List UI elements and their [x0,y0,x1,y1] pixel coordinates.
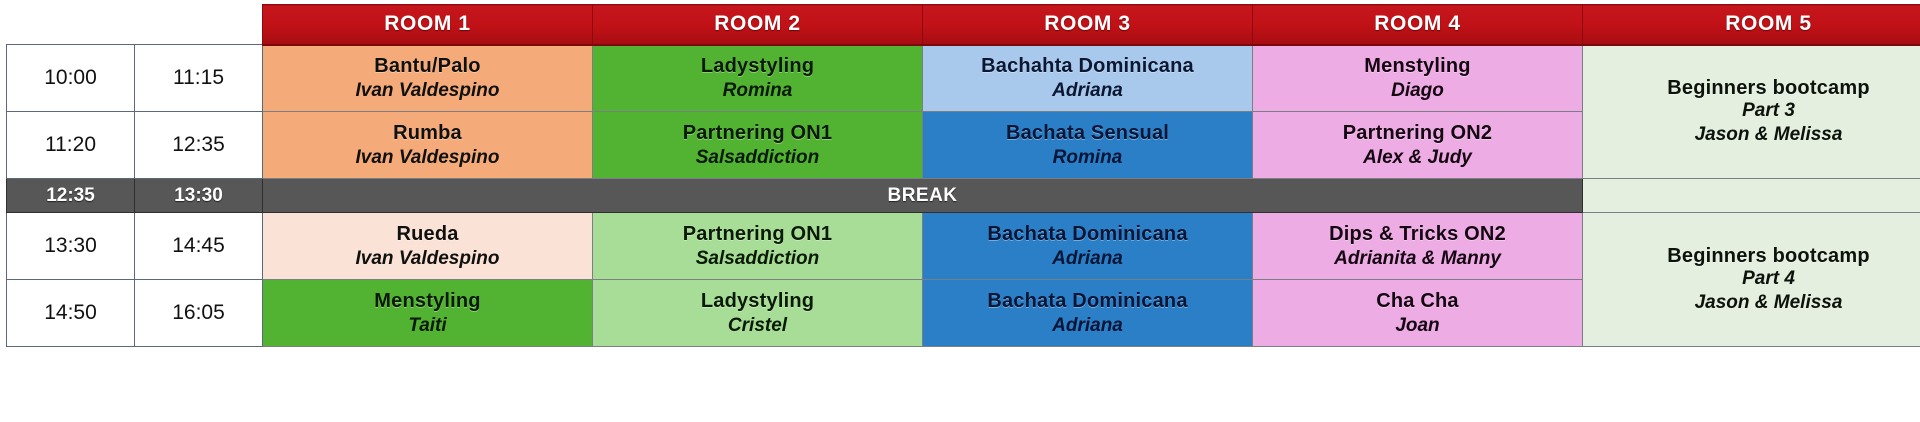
session-r1-room2[interactable]: Ladystyling Romina [593,45,923,112]
table-row: 13:30 14:45 Rueda Ivan Valdespino Partne… [7,213,1920,280]
row-4-end-time: 16:05 [135,280,263,347]
session-bootcamp-part-4-room5[interactable]: Beginners bootcamp Part 4 Jason & Meliss… [1583,213,1920,347]
header-blank-start-time [7,5,135,45]
row-3-start-time: 13:30 [7,213,135,280]
session-instructor: Salsaddiction [599,147,916,169]
session-title: Dips & Tricks ON2 [1259,223,1576,246]
session-instructor: Adriana [929,315,1246,337]
session-instructor: Adriana [929,80,1246,102]
session-title: Partnering ON1 [599,223,916,246]
break-room5-filler [1583,179,1920,213]
session-r1-room4[interactable]: Menstyling Diago [1253,45,1583,112]
session-instructor: Romina [599,80,916,102]
session-title: Partnering ON1 [599,122,916,145]
break-row: 12:35 13:30 BREAK [7,179,1920,213]
session-title: Menstyling [269,290,586,313]
session-instructor: Adrianita & Manny [1259,248,1576,270]
table-row: 10:00 11:15 Bantu/Palo Ivan Valdespino L… [7,45,1920,112]
session-title: Rumba [269,122,586,145]
header-room-4: ROOM 4 [1253,5,1583,45]
session-instructor: Salsaddiction [599,248,916,270]
session-instructor: Taiti [269,315,586,337]
session-instructor: Diago [1259,80,1576,102]
header-blank-end-time [135,5,263,45]
session-r4-room3[interactable]: Bachata Dominicana Adriana [923,280,1253,347]
bootcamp-instructor: Jason & Melissa [1589,124,1920,146]
session-instructor: Adriana [929,248,1246,270]
break-end-time: 13:30 [135,179,263,213]
session-r2-room4[interactable]: Partnering ON2 Alex & Judy [1253,112,1583,179]
session-instructor: Ivan Valdespino [269,80,586,102]
schedule-root: ROOM 1 ROOM 2 ROOM 3 ROOM 4 ROOM 5 10:00… [0,4,1920,422]
session-r4-room4[interactable]: Cha Cha Joan [1253,280,1583,347]
header-room-2: ROOM 2 [593,5,923,45]
row-1-end-time: 11:15 [135,45,263,112]
session-title: Menstyling [1259,55,1576,78]
session-title: Rueda [269,223,586,246]
session-instructor: Romina [929,147,1246,169]
session-instructor: Joan [1259,315,1576,337]
session-instructor: Cristel [599,315,916,337]
session-title: Bachahta Dominicana [929,55,1246,78]
session-title: Ladystyling [599,55,916,78]
row-4-start-time: 14:50 [7,280,135,347]
session-r3-room4[interactable]: Dips & Tricks ON2 Adrianita & Manny [1253,213,1583,280]
session-bootcamp-part-3-room5[interactable]: Beginners bootcamp Part 3 Jason & Meliss… [1583,45,1920,179]
session-r1-room1[interactable]: Bantu/Palo Ivan Valdespino [263,45,593,112]
session-title: Ladystyling [599,290,916,313]
session-r2-room3[interactable]: Bachata Sensual Romina [923,112,1253,179]
session-instructor: Ivan Valdespino [269,248,586,270]
session-r3-room2[interactable]: Partnering ON1 Salsaddiction [593,213,923,280]
header-room-3: ROOM 3 [923,5,1253,45]
break-label: BREAK [263,179,1583,213]
festival-schedule-table: ROOM 1 ROOM 2 ROOM 3 ROOM 4 ROOM 5 10:00… [6,4,1920,347]
bootcamp-title: Beginners bootcamp [1589,245,1920,268]
session-r3-room1[interactable]: Rueda Ivan Valdespino [263,213,593,280]
session-title: Cha Cha [1259,290,1576,313]
row-1-start-time: 10:00 [7,45,135,112]
session-r1-room3[interactable]: Bachahta Dominicana Adriana [923,45,1253,112]
session-instructor: Alex & Judy [1259,147,1576,169]
session-r2-room1[interactable]: Rumba Ivan Valdespino [263,112,593,179]
session-r4-room2[interactable]: Ladystyling Cristel [593,280,923,347]
row-2-end-time: 12:35 [135,112,263,179]
session-title: Bachata Dominicana [929,290,1246,313]
session-instructor: Ivan Valdespino [269,147,586,169]
row-3-end-time: 14:45 [135,213,263,280]
bootcamp-instructor: Jason & Melissa [1589,292,1920,314]
session-title: Bantu/Palo [269,55,586,78]
session-title: Bachata Sensual [929,122,1246,145]
session-title: Bachata Dominicana [929,223,1246,246]
table-header-row: ROOM 1 ROOM 2 ROOM 3 ROOM 4 ROOM 5 [7,5,1920,45]
session-r3-room3[interactable]: Bachata Dominicana Adriana [923,213,1253,280]
header-room-5: ROOM 5 [1583,5,1920,45]
session-title: Partnering ON2 [1259,122,1576,145]
bootcamp-part: Part 4 [1589,268,1920,290]
header-room-1: ROOM 1 [263,5,593,45]
session-r2-room2[interactable]: Partnering ON1 Salsaddiction [593,112,923,179]
break-start-time: 12:35 [7,179,135,213]
session-r4-room1[interactable]: Menstyling Taiti [263,280,593,347]
row-2-start-time: 11:20 [7,112,135,179]
bootcamp-part: Part 3 [1589,100,1920,122]
bootcamp-title: Beginners bootcamp [1589,77,1920,100]
